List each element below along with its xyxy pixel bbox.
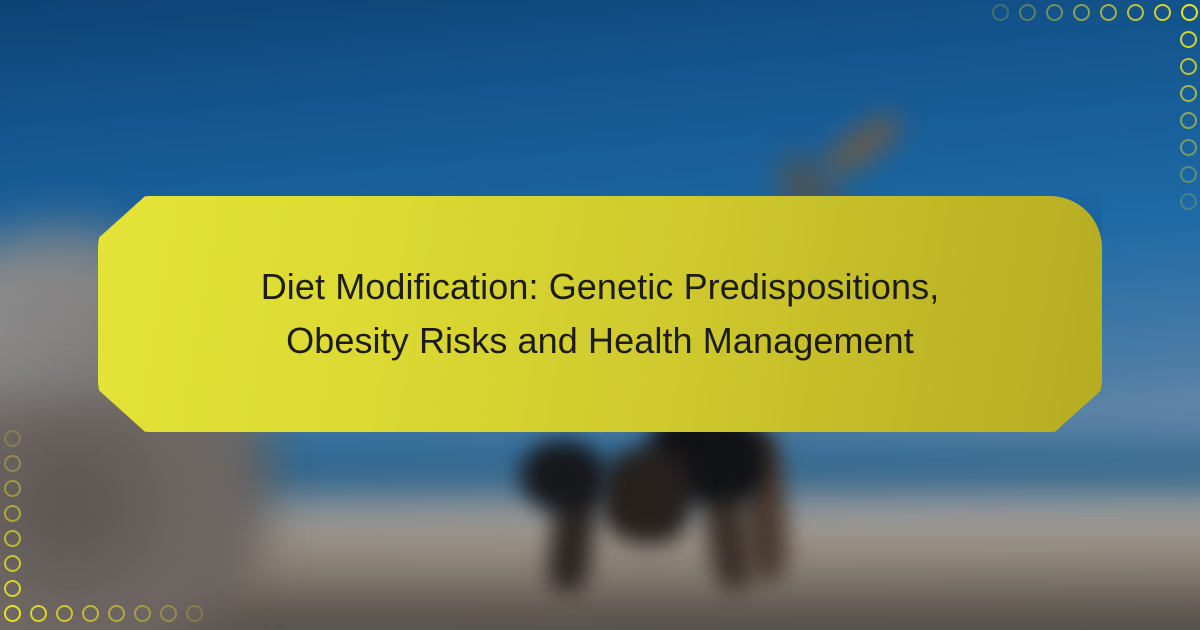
decor-dot [1181, 4, 1198, 21]
decor-dot [4, 605, 21, 622]
decor-dot [134, 605, 151, 622]
decor-dot [1180, 58, 1197, 75]
decor-dot [1180, 85, 1197, 102]
decor-dot [186, 605, 203, 622]
decor-dot [1180, 139, 1197, 156]
decor-dot [1180, 193, 1197, 210]
decor-dot [1073, 4, 1090, 21]
decor-dot [992, 4, 1009, 21]
page-title: Diet Modification: Genetic Predispositio… [221, 260, 980, 368]
decor-dot [1180, 112, 1197, 129]
decor-dot [56, 605, 73, 622]
decor-dot [4, 455, 21, 472]
decor-dot [1127, 4, 1144, 21]
title-banner: Diet Modification: Genetic Predispositio… [98, 196, 1102, 432]
decor-dot [1100, 4, 1117, 21]
decor-dot [30, 605, 47, 622]
decor-dot [4, 505, 21, 522]
decor-dot [4, 430, 21, 447]
figure-head [520, 440, 606, 512]
decor-dot [1046, 4, 1063, 21]
decor-dot [4, 480, 21, 497]
page-title-line-2: Obesity Risks and Health Management [286, 320, 914, 361]
page-title-line-1: Diet Modification: Genetic Predispositio… [261, 266, 940, 307]
decor-dot [1180, 166, 1197, 183]
decor-dot [108, 605, 125, 622]
decor-dot [82, 605, 99, 622]
decor-dot [4, 555, 21, 572]
decor-dot [160, 605, 177, 622]
decor-dot [4, 530, 21, 547]
decor-dot [1154, 4, 1171, 21]
decor-dot [1019, 4, 1036, 21]
decor-dot [1180, 31, 1197, 48]
figure-torso [600, 448, 692, 544]
rock-shadow [0, 400, 270, 630]
social-share-card: Diet Modification: Genetic Predispositio… [0, 0, 1200, 630]
decor-dot [4, 580, 21, 597]
